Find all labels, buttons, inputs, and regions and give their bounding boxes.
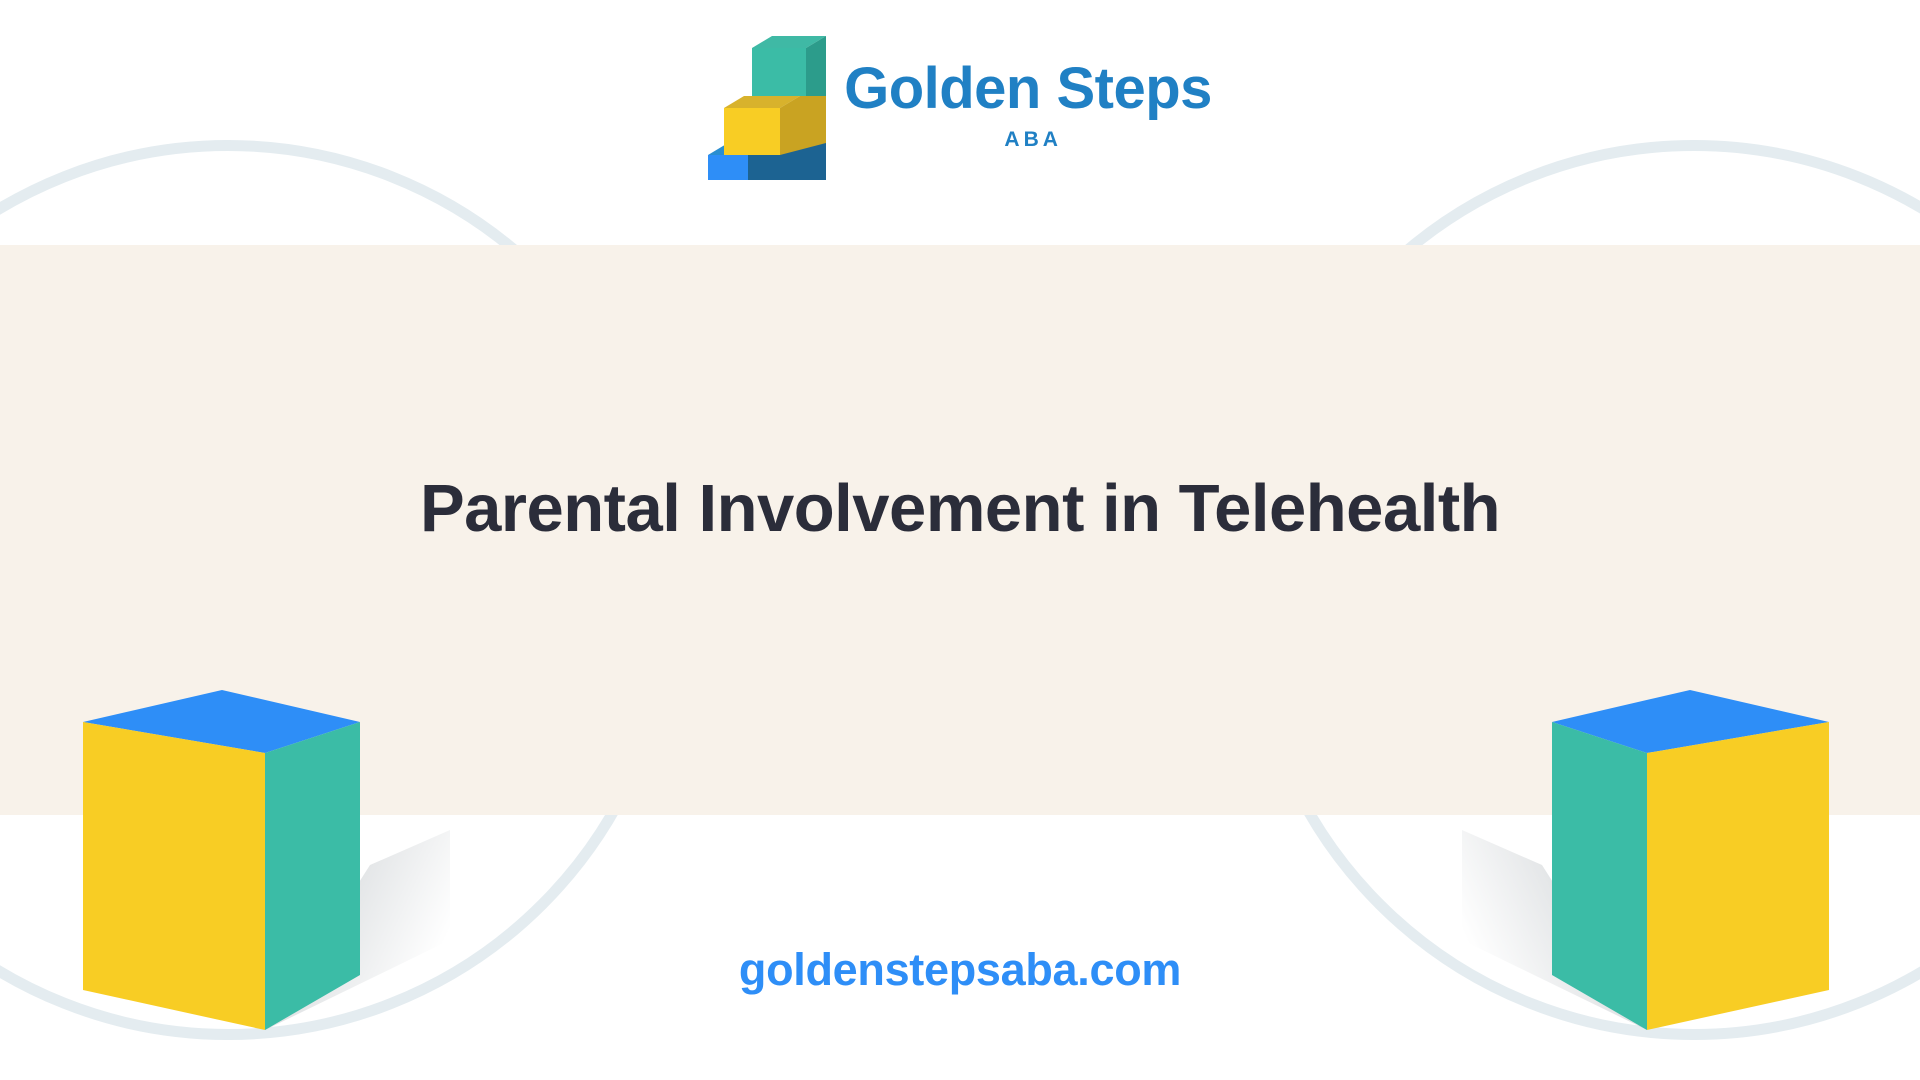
brand-logo-lockup: Golden Steps ABA bbox=[0, 30, 1920, 180]
social-card-canvas: Golden Steps ABA Parental Involvement in… bbox=[0, 0, 1920, 1080]
page-title: Parental Involvement in Telehealth bbox=[0, 470, 1920, 547]
brand-name: Golden Steps bbox=[844, 60, 1212, 118]
brand-wordmark: Golden Steps ABA bbox=[844, 60, 1212, 150]
stacked-steps-blocks-icon bbox=[708, 30, 826, 180]
brand-subtitle: ABA bbox=[1004, 129, 1062, 150]
website-url[interactable]: goldenstepsaba.com bbox=[0, 944, 1920, 996]
